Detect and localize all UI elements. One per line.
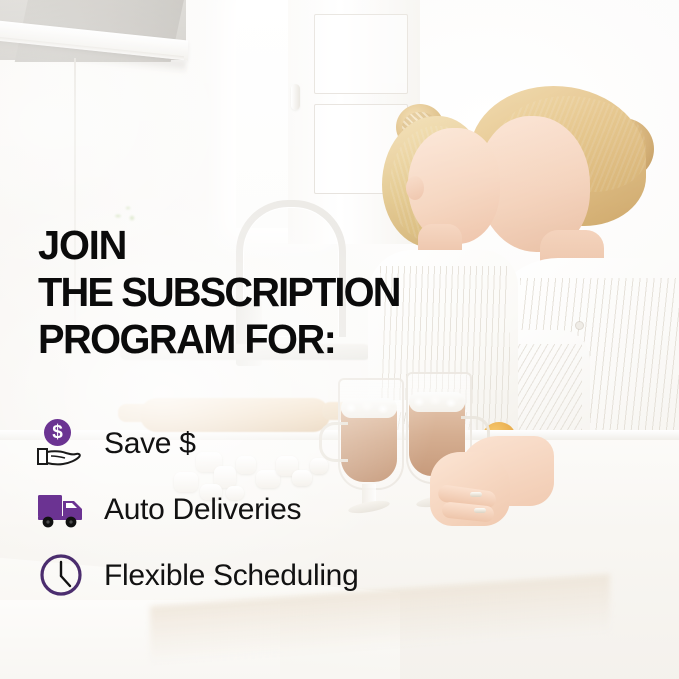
dollar-sign-glyph: $ [52,423,63,442]
finger-ring [470,492,482,497]
headline-line-2: THE SUBSCRIPTION [38,269,494,316]
marshmallow-topping [409,392,465,412]
feature-item-auto-deliveries: Auto Deliveries [36,484,358,536]
feature-item-flexible-scheduling: Flexible Scheduling [36,550,358,602]
feature-label: Flexible Scheduling [104,559,358,593]
marshmallow-topping [341,398,397,418]
daughter-ear [406,176,424,200]
mother-blouse-button [576,322,583,329]
delivery-truck-icon [36,484,88,536]
herb-sprig [112,200,138,224]
feature-label: Save $ [104,427,196,461]
feature-item-save: $ Save $ [36,418,358,470]
feature-label: Auto Deliveries [104,493,301,527]
page-title: JOIN THE SUBSCRIPTION PROGRAM FOR: [38,222,494,363]
coin-in-hand-icon: $ [36,418,88,470]
clock-glyph [39,553,83,597]
door-knob [291,84,300,110]
feature-list: $ Save $ [36,418,358,602]
clock-icon [36,550,88,602]
door-panel-top [314,14,408,94]
headline-line-1: JOIN [38,222,494,269]
open-hand-icon [36,445,84,469]
finger-ring [474,508,486,513]
subscription-program-poster: JOIN THE SUBSCRIPTION PROGRAM FOR: $ Sav… [0,0,679,679]
dollar-coin-icon: $ [44,419,71,446]
truck-glyph [37,490,87,530]
headline-line-3: PROGRAM FOR: [38,316,494,363]
